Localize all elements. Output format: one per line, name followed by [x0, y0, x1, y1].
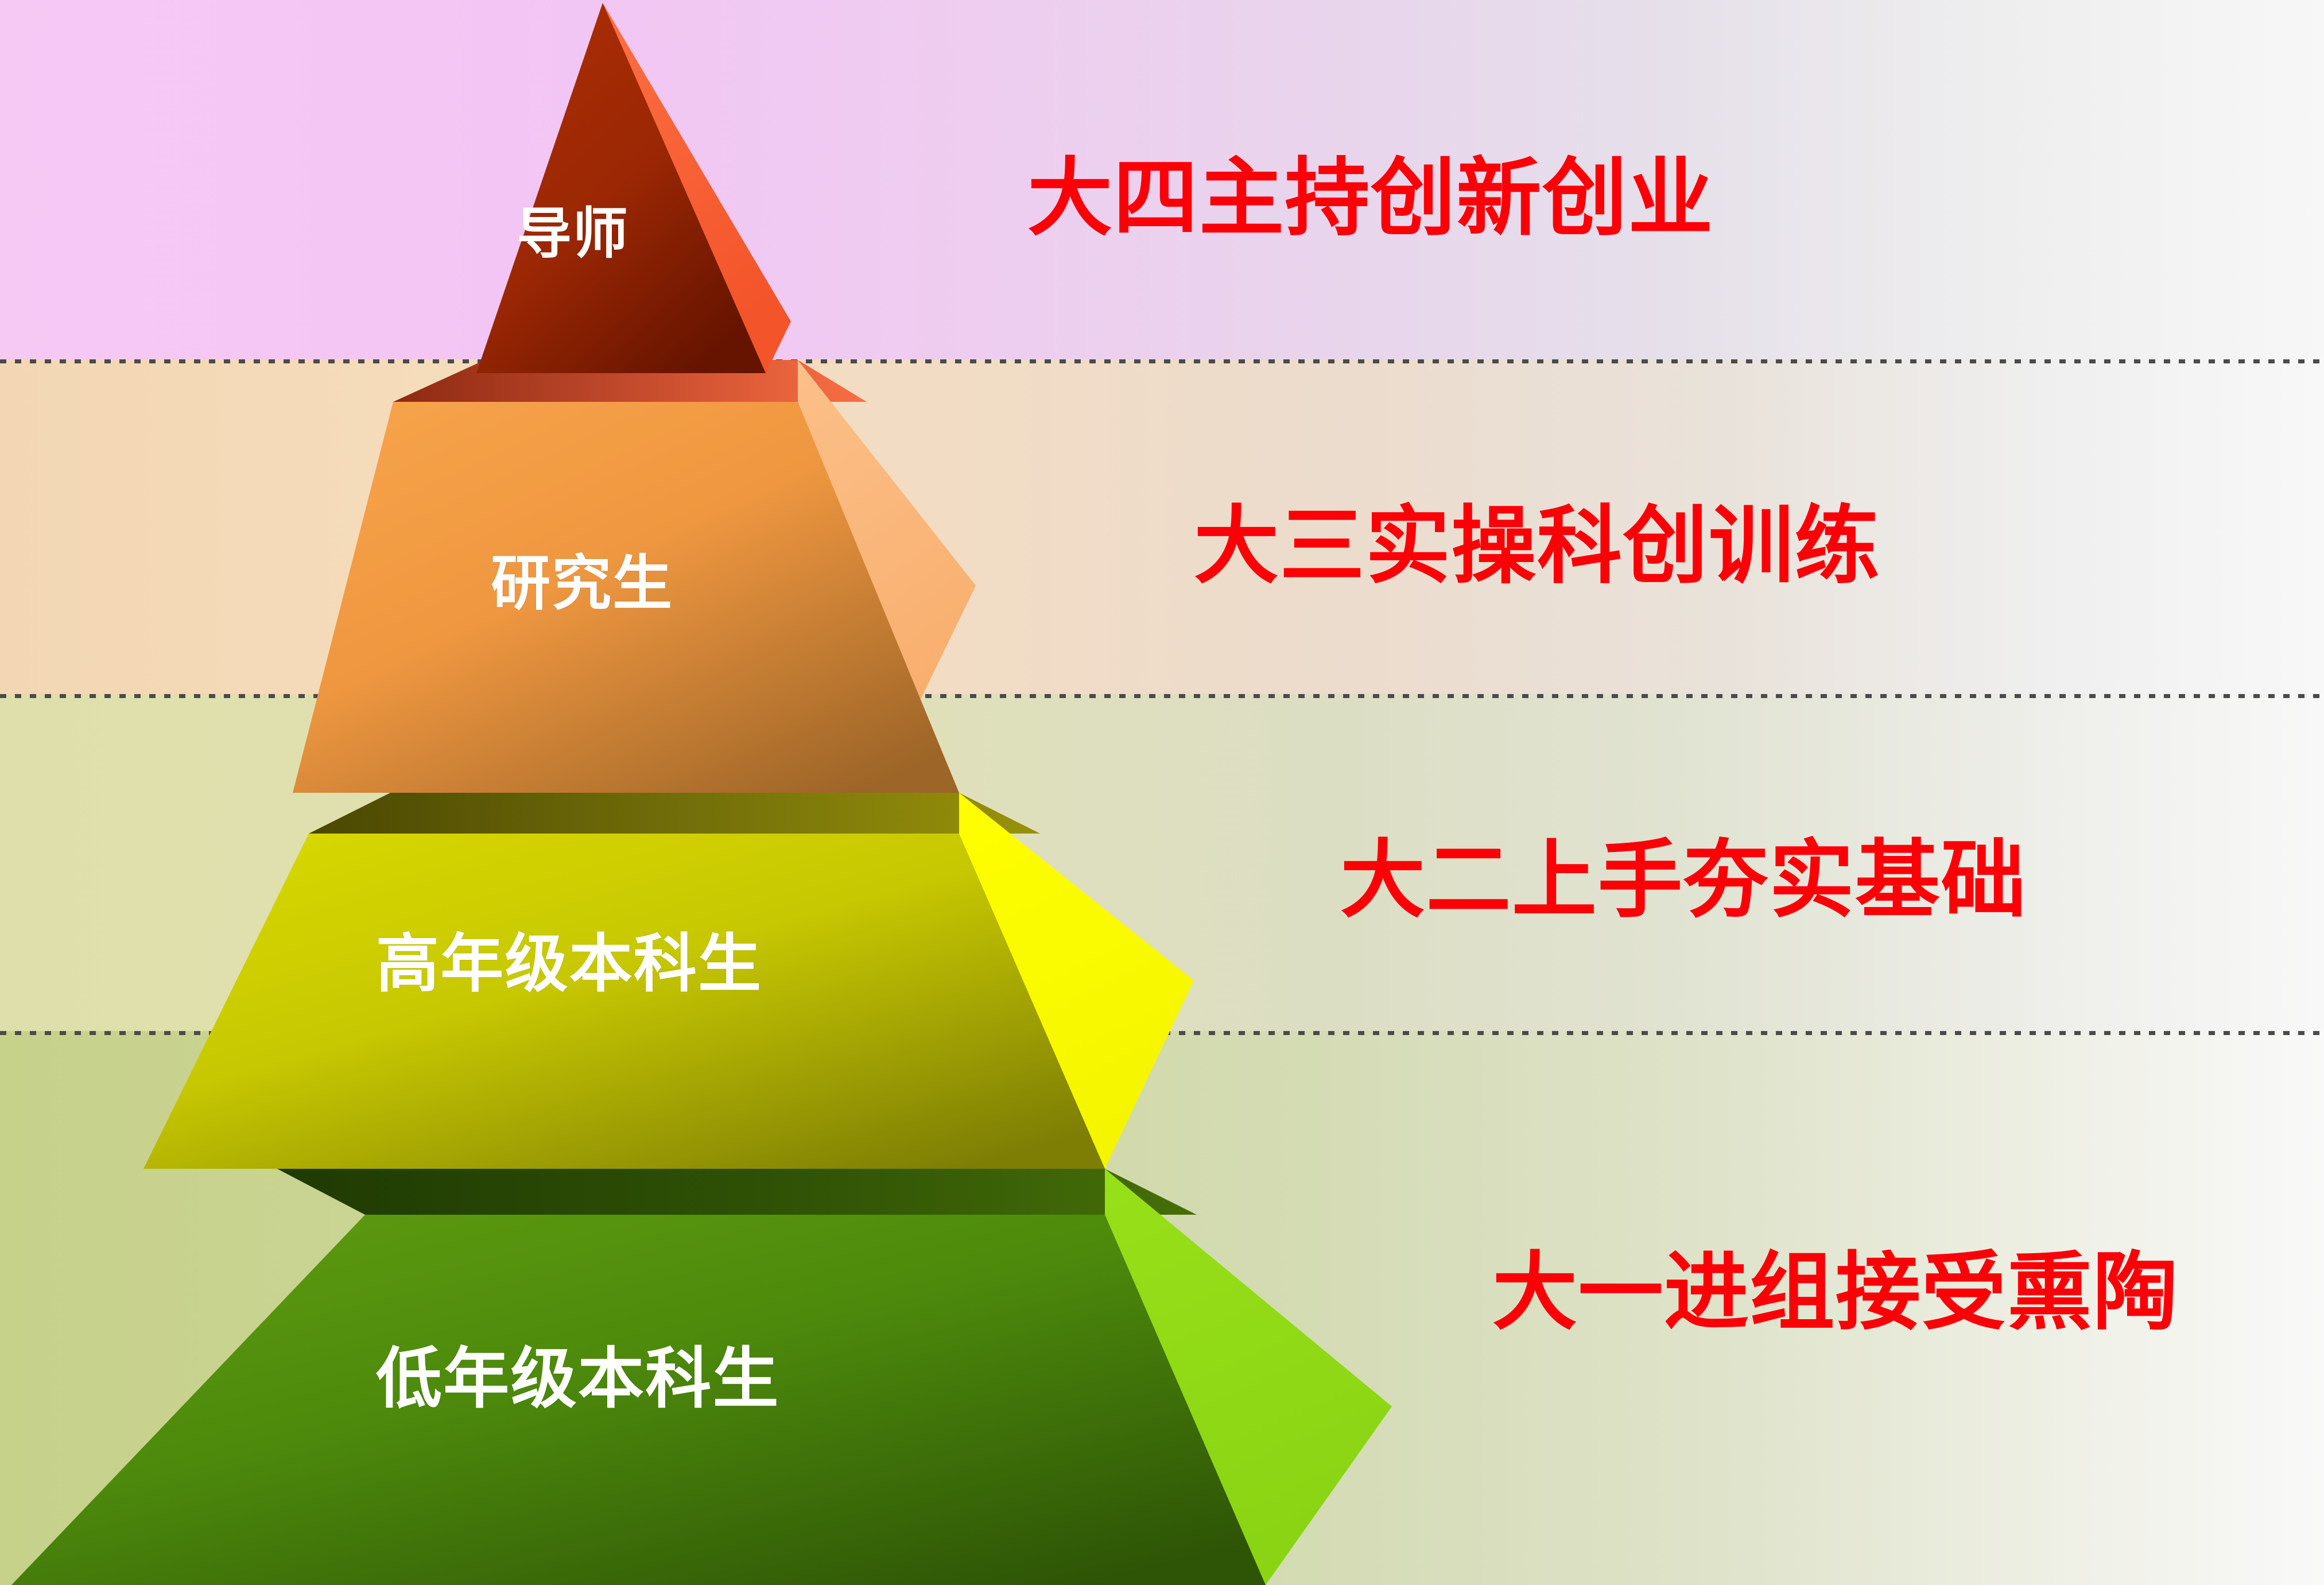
stage-caption-senior-undergrad: 大二上手夯实基础	[1340, 838, 2027, 923]
stage-caption-mentor: 大四主持创新创业	[1027, 156, 1714, 241]
level-label-graduate: 研究生	[491, 554, 673, 614]
level-front-face	[476, 3, 766, 373]
level-label-mentor: 导师	[517, 207, 629, 262]
level-top-surface	[309, 793, 1040, 834]
level-label-senior-undergrad: 高年级本科生	[376, 933, 762, 996]
stage-caption-junior-undergrad: 大一进组接受熏陶	[1492, 1250, 2179, 1335]
level-top-surface	[277, 1169, 1197, 1215]
pyramid-level-mentor	[476, 3, 791, 373]
stage-caption-graduate: 大三实操科创训练	[1194, 504, 1880, 589]
level-front-face	[143, 834, 1105, 1169]
pyramid-diagram: 导师 研究生 高年级本科生 低年级本科生 大四主持创新创业 大三实操科创训练 大…	[0, 0, 2324, 1585]
level-label-junior-undergrad: 低年级本科生	[376, 1346, 780, 1412]
